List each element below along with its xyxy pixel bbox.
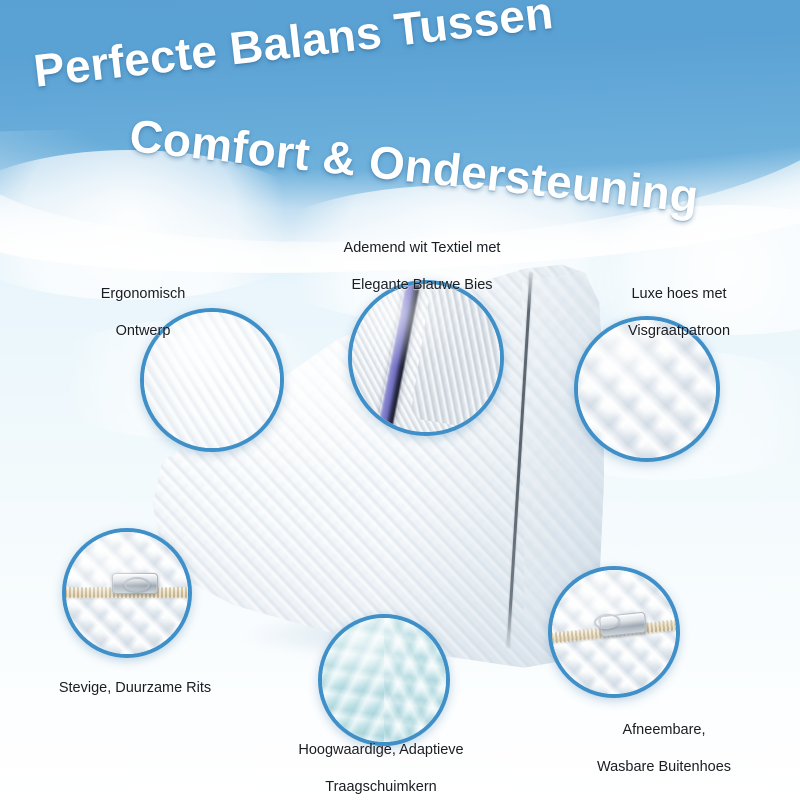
- pillow-top-piping: [520, 203, 663, 255]
- callout-label-duurzame-rits: Stevige, Duurzame Rits: [22, 660, 248, 697]
- infographic-canvas: Perfecte Balans Tussen Comfort & Onderst…: [0, 0, 800, 800]
- label-line-2: Visgraatpatroon: [628, 323, 730, 339]
- callout-label-wasbare-buitenhoes: Afneembare, Wasbare Buitenhoes: [548, 702, 780, 776]
- callout-label-traagschuimkern: Hoogwaardige, Adaptieve Traagschuimkern: [263, 722, 499, 796]
- callout-label-ademend-textiel: Ademend wit Textiel met Elegante Blauwe …: [307, 220, 537, 294]
- label-line-2: Elegante Blauwe Bies: [351, 277, 492, 293]
- callout-wasbare-buitenhoes[interactable]: [548, 566, 680, 698]
- callout-gloss: [66, 532, 188, 654]
- label-line-1: Afneembare,: [622, 722, 705, 738]
- label-line-1: Stevige, Duurzame Rits: [59, 680, 211, 696]
- callout-label-luxe-hoes: Luxe hoes met Visgraatpatroon: [570, 266, 788, 340]
- callout-ademend-textiel[interactable]: [348, 280, 504, 436]
- callout-gloss: [552, 570, 676, 694]
- label-line-1: Ademend wit Textiel met: [344, 240, 501, 256]
- label-line-2: Ontwerp: [116, 323, 171, 339]
- label-line-2: Wasbare Buitenhoes: [597, 759, 731, 775]
- label-line-1: Ergonomisch: [101, 286, 186, 302]
- label-line-1: Luxe hoes met: [631, 286, 726, 302]
- callout-label-ergonomisch-ontwerp: Ergonomisch Ontwerp: [38, 266, 248, 340]
- callout-gloss: [578, 320, 716, 458]
- callout-gloss: [352, 284, 500, 432]
- label-line-2: Traagschuimkern: [325, 779, 436, 795]
- label-line-1: Hoogwaardige, Adaptieve: [298, 742, 463, 758]
- callout-duurzame-rits[interactable]: [62, 528, 192, 658]
